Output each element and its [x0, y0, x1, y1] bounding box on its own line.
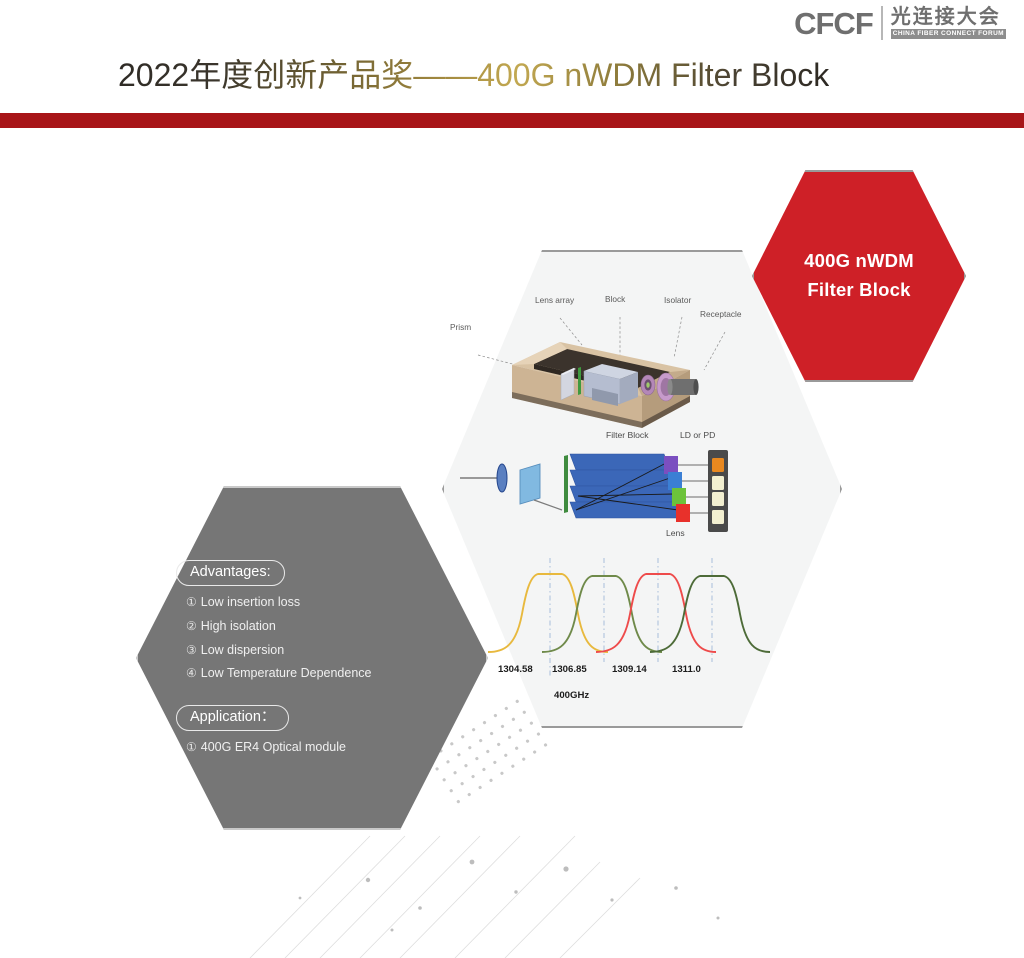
bullet-number: ③: [186, 644, 197, 657]
bullet-text: Low Temperature Dependence: [201, 667, 372, 680]
cfcf-logo-chinese: 光连接大会: [891, 7, 1006, 27]
advantages-list: ① Low insertion loss ② High isolation ③ …: [176, 596, 466, 680]
list-item: ① 400G ER4 Optical module: [186, 741, 466, 754]
bullet-number: ②: [186, 620, 197, 633]
label-block: Block: [605, 294, 625, 304]
product-badge-text: 400G nWDM Filter Block: [804, 247, 914, 304]
header-accent-bar: [0, 113, 1024, 128]
footer: Auxora Color the World A COMPANY OF 天孚通信: [0, 862, 1024, 958]
product-badge-line2: Filter Block: [804, 276, 914, 305]
list-item: ③ Low dispersion: [186, 644, 466, 657]
wavelength-tick-2: 1306.85: [552, 664, 587, 675]
label-prism: Prism: [450, 322, 471, 332]
advantages-panel: Advantages: ① Low insertion loss ② High …: [176, 560, 466, 765]
bullet-text: High isolation: [201, 620, 276, 633]
label-isolator: Isolator: [664, 295, 691, 305]
wavelength-tick-4: 1311.0: [672, 664, 701, 675]
list-item: ④ Low Temperature Dependence: [186, 667, 466, 680]
page-title: 2022年度创新产品奖——400G nWDM Filter Block: [118, 55, 829, 95]
label-ld-or-pd: LD or PD: [680, 430, 715, 440]
bullet-number: ①: [186, 596, 197, 609]
cfcf-logo-divider: [881, 6, 883, 40]
label-lens: Lens: [666, 528, 685, 538]
channel-spacing-label: 400GHz: [554, 690, 589, 701]
label-lens-array: Lens array: [535, 295, 574, 305]
cfcf-logo: CFCF 光连接大会 CHINA FIBER CONNECT FORUM: [794, 6, 1006, 40]
bullet-text: Low dispersion: [201, 644, 284, 657]
cfcf-logo-english: CHINA FIBER CONNECT FORUM: [891, 29, 1006, 39]
advantages-heading: Advantages:: [176, 560, 285, 586]
application-list: ① 400G ER4 Optical module: [176, 741, 466, 754]
wavelength-tick-1: 1304.58: [498, 664, 533, 675]
list-item: ② High isolation: [186, 620, 466, 633]
bullet-text: 400G ER4 Optical module: [201, 741, 346, 754]
label-receptacle: Receptacle: [700, 309, 742, 319]
application-heading: Application：: [176, 705, 289, 731]
bullet-number: ④: [186, 667, 197, 680]
slide-root: CFCF 光连接大会 CHINA FIBER CONNECT FORUM 202…: [0, 0, 1024, 958]
bullet-text: Low insertion loss: [201, 596, 300, 609]
optical-path-diagram: [442, 440, 842, 550]
product-badge-line1: 400G nWDM: [804, 247, 914, 276]
wavelength-tick-3: 1309.14: [612, 664, 647, 675]
label-filter-block: Filter Block: [606, 430, 649, 440]
list-item: ① Low insertion loss: [186, 596, 466, 609]
bullet-number: ①: [186, 741, 197, 754]
cfcf-logo-mark: CFCF: [794, 8, 873, 39]
